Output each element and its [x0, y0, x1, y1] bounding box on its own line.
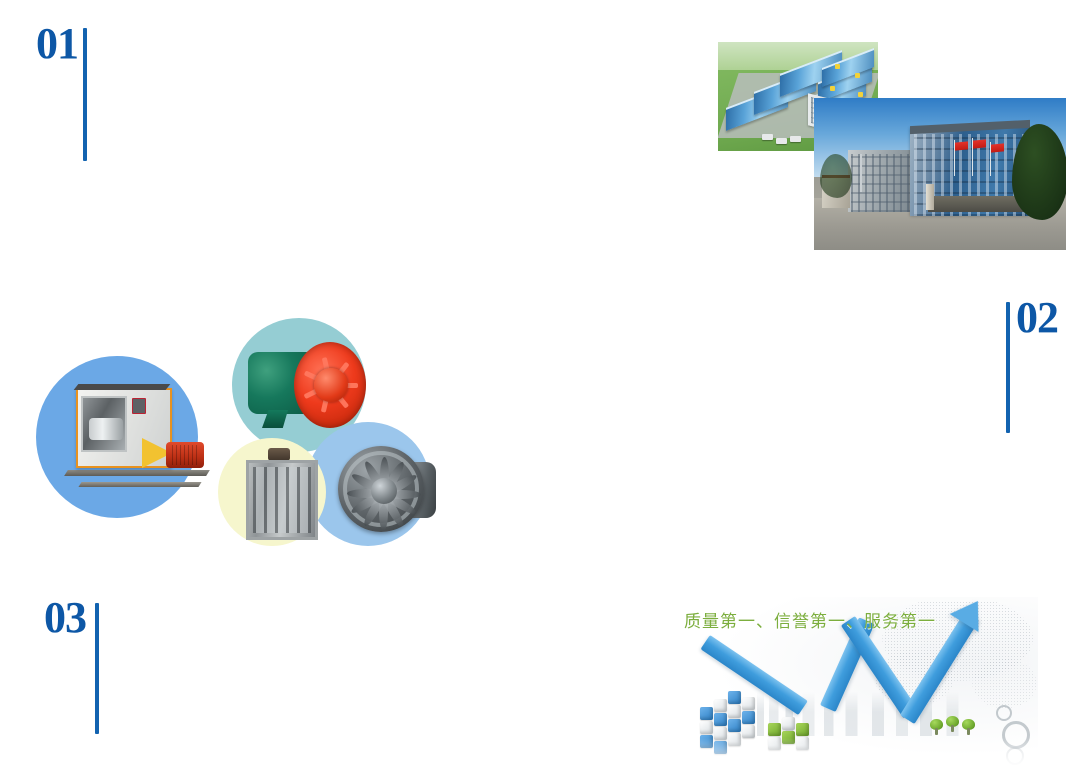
cube	[742, 725, 755, 738]
cube	[782, 717, 795, 730]
render-marker-dot	[830, 86, 835, 91]
slogan-text: 质量第一、信誉第一、服务第一	[684, 607, 936, 632]
axial-fan-hub	[314, 368, 348, 402]
cube	[768, 723, 781, 736]
tree-trunk	[951, 725, 954, 732]
section-number-01: 01	[36, 24, 78, 64]
damper-frame	[246, 460, 318, 540]
render-truck	[762, 134, 773, 140]
section-number-02: 02	[1016, 298, 1058, 338]
cube	[742, 711, 755, 724]
cube	[700, 721, 713, 734]
section-number-03: 03	[44, 598, 86, 638]
render-marker-dot	[858, 92, 863, 97]
lamp-post	[860, 154, 862, 192]
tree-icon	[946, 716, 959, 732]
tree-trunk	[935, 728, 938, 735]
cabinet-centrifugal-fan	[56, 366, 211, 506]
boundary-wall	[928, 196, 1028, 212]
metal-axial-fan	[334, 444, 442, 538]
tree	[1012, 124, 1066, 220]
section-marker-03: 03	[44, 598, 99, 734]
axial-flow-fan-green-red	[248, 340, 368, 436]
metal-fan-hub	[371, 478, 397, 504]
page-root: 01 02 03	[0, 0, 1074, 772]
cube	[728, 691, 741, 704]
cube	[742, 697, 755, 710]
section-rule-01	[83, 28, 87, 161]
fire-damper-air-valve	[242, 446, 318, 538]
section-marker-02: 02	[1006, 298, 1058, 433]
cube	[728, 719, 741, 732]
render-marker-dot	[855, 73, 860, 78]
cube	[796, 723, 809, 736]
cube	[728, 705, 741, 718]
cube	[714, 699, 727, 712]
fan-control-panel	[132, 398, 146, 414]
tree-icon	[930, 719, 943, 735]
blue-cube-cluster	[700, 689, 760, 745]
fan-inlet-opening	[81, 396, 127, 452]
render-marker-dot	[835, 64, 840, 69]
secondary-building	[848, 150, 918, 212]
section-rule-02	[1006, 302, 1010, 433]
product-collage	[34, 318, 434, 553]
company-office-building-photo	[814, 98, 1066, 250]
growth-arrow-slogan-banner: 质量第一、信誉第一、服务第一	[672, 597, 1038, 772]
chinese-flag	[973, 139, 986, 148]
tree-icon	[962, 719, 975, 735]
fan-base-rail	[64, 470, 210, 476]
render-truck	[776, 138, 787, 144]
fan-impeller	[89, 418, 123, 440]
section-marker-01: 01	[36, 24, 87, 161]
fan-base-rail	[78, 482, 201, 487]
gate-pillar	[926, 184, 934, 210]
banner-reflection-fade	[672, 738, 1038, 772]
decorative-ring	[996, 705, 1012, 721]
metal-fan-shroud	[338, 446, 424, 532]
tree	[820, 154, 852, 198]
chinese-flag	[955, 141, 968, 150]
cube	[700, 707, 713, 720]
section-rule-03	[95, 603, 99, 734]
chinese-flag	[991, 143, 1004, 152]
fan-motor	[166, 442, 204, 468]
render-truck	[790, 136, 801, 142]
tree-trunk	[967, 728, 970, 735]
cube	[714, 713, 727, 726]
